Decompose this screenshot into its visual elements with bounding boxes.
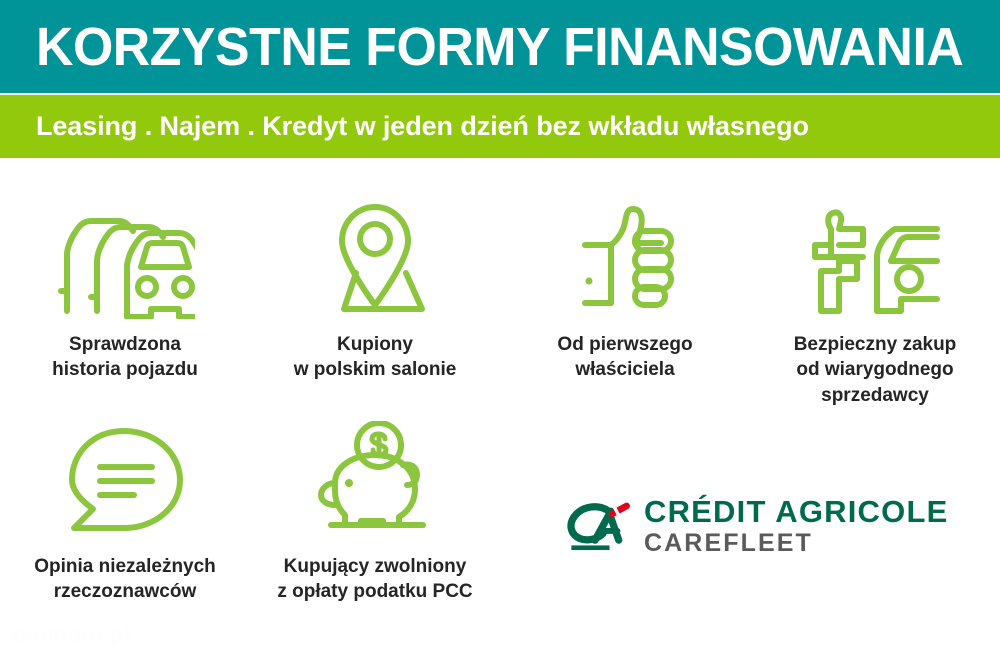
credit-agricole-carefleet-logo: CRÉDIT AGRICOLE CAREFLEET <box>566 496 956 558</box>
watermark: otomoto.pl <box>12 622 131 648</box>
piggy-bank-icon <box>305 418 445 544</box>
map-pin-icon <box>310 196 440 322</box>
subhead-band: Leasing . Najem . Kredyt w jeden dzień b… <box>0 95 1000 158</box>
ca-monogram-icon <box>566 502 632 552</box>
page-subtitle: Leasing . Najem . Kredyt w jeden dzień b… <box>36 113 809 140</box>
feature-caption: Bezpieczny zakup od wiarygodnego sprzeda… <box>794 332 957 408</box>
thumbs-up-icon <box>565 196 685 322</box>
feature-caption: Kupiony w polskim salonie <box>294 332 457 383</box>
speech-bubble-icon <box>60 418 190 544</box>
feature-caption: Opinia niezależnych rzeczoznawców <box>34 554 216 605</box>
headline-band: KORZYSTNE FORMY FINANSOWANIA <box>0 0 1000 93</box>
infographic-banner: KORZYSTNE FORMY FINANSOWANIA Leasing . N… <box>0 0 1000 654</box>
feature-first-owner: Od pierwszego właściciela <box>500 196 750 408</box>
feature-trusted-seller: Bezpieczny zakup od wiarygodnego sprzeda… <box>750 196 1000 408</box>
feature-polish-dealership: Kupiony w polskim salonie <box>250 196 500 408</box>
cars-stack-icon <box>55 196 195 322</box>
feature-expert-opinion: Opinia niezależnych rzeczoznawców <box>0 418 250 605</box>
trusted-seller-icon <box>805 196 945 322</box>
logo-subbrand-line: CAREFLEET <box>644 529 948 558</box>
feature-caption: Sprawdzona historia pojazdu <box>52 332 198 383</box>
feature-caption: Kupujący zwolniony z opłaty podatku PCC <box>277 554 472 605</box>
logo-wordmark: CRÉDIT AGRICOLE CAREFLEET <box>644 496 948 557</box>
feature-vehicle-history: Sprawdzona historia pojazdu <box>0 196 250 408</box>
feature-caption: Od pierwszego właściciela <box>557 332 692 383</box>
feature-pcc-tax-exempt: Kupujący zwolniony z opłaty podatku PCC <box>250 418 500 605</box>
logo-brand-line: CRÉDIT AGRICOLE <box>644 496 948 529</box>
feature-row-first: Sprawdzona historia pojazdu Kupiony w po… <box>0 196 1000 408</box>
page-title: KORZYSTNE FORMY FINANSOWANIA <box>36 20 963 74</box>
